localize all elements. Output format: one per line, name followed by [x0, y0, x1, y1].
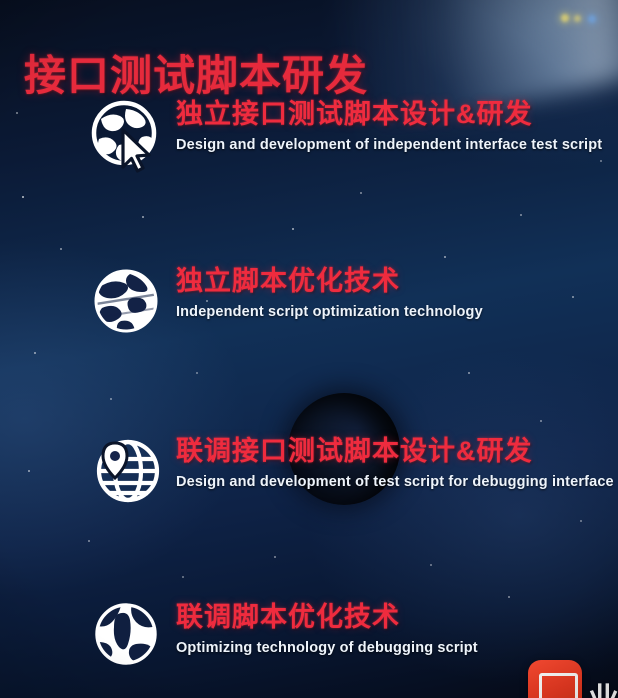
list-item-text: 独立脚本优化技术 Independent script optimization… [176, 262, 483, 320]
list-item-subtitle: Optimizing technology of debugging scrip… [176, 640, 478, 656]
list-item-text: 独立接口测试脚本设计&研发 Design and development of … [176, 95, 602, 153]
list-item: 独立接口测试脚本设计&研发 Design and development of … [88, 95, 602, 173]
list-item-heading: 独立接口测试脚本设计&研发 [176, 99, 602, 129]
list-item-text: 联调接口测试脚本设计&研发 Design and development of … [176, 432, 614, 490]
globe-cursor-icon [88, 95, 166, 173]
list-item: 联调接口测试脚本设计&研发 Design and development of … [88, 432, 614, 510]
globe-wireframe-pin-icon [88, 432, 166, 510]
list-item-heading: 联调脚本优化技术 [176, 602, 478, 632]
feature-list: 独立接口测试脚本设计&研发 Design and development of … [0, 0, 618, 698]
presentation-slide: 接口测试脚本研发 [0, 0, 618, 698]
list-item: 联调脚本优化技术 Optimizing technology of debugg… [88, 598, 478, 676]
list-item-subtitle: Design and development of test script fo… [176, 474, 614, 490]
list-item-subtitle: Design and development of independent in… [176, 137, 602, 153]
list-item-heading: 独立脚本优化技术 [176, 266, 483, 296]
globe-continents-icon [88, 598, 166, 676]
list-item-subtitle: Independent script optimization technolo… [176, 304, 483, 320]
globe-solid-icon [88, 262, 166, 340]
list-item: 独立脚本优化技术 Independent script optimization… [88, 262, 483, 340]
list-item-heading: 联调接口测试脚本设计&研发 [176, 436, 614, 466]
list-item-text: 联调脚本优化技术 Optimizing technology of debugg… [176, 598, 478, 656]
